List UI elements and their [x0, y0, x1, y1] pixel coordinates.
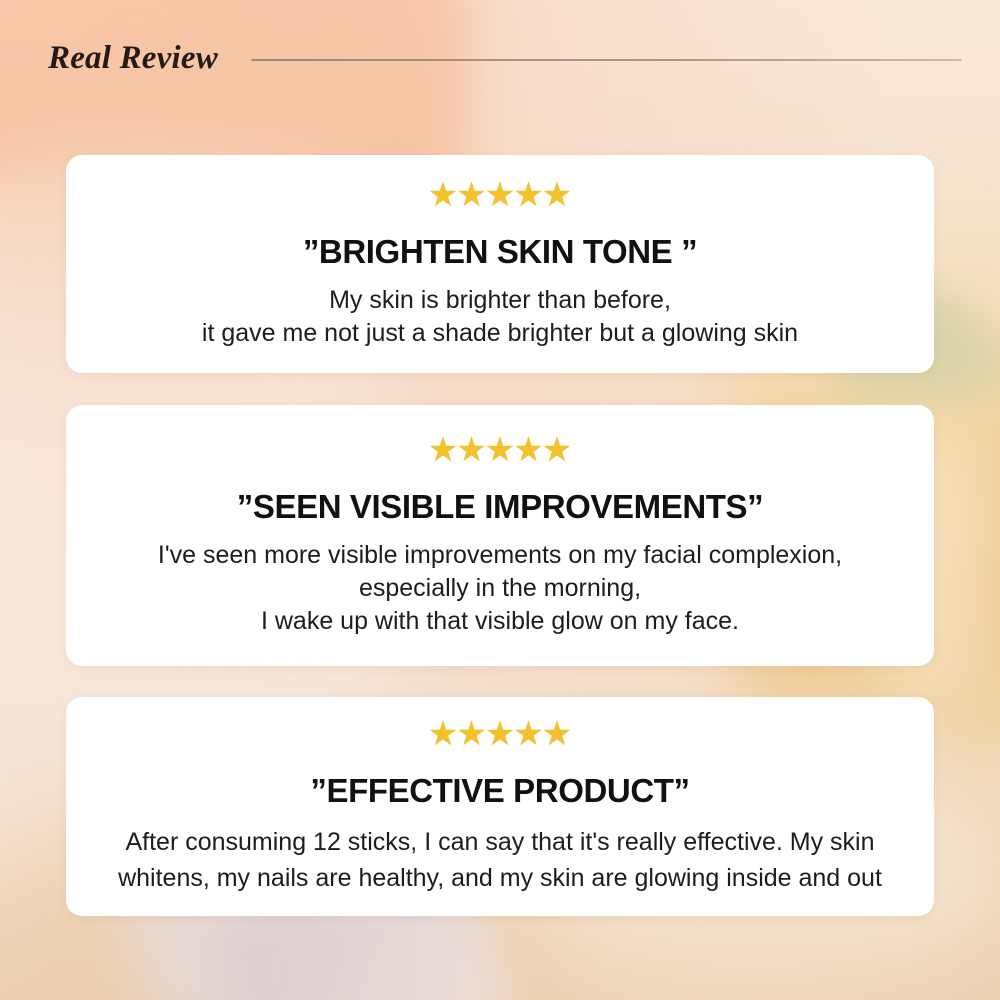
star-icon: ★	[485, 433, 515, 467]
review-body-line: it gave me not just a shade brighter but…	[202, 317, 798, 350]
star-icon: ★	[542, 717, 572, 751]
star-rating: ★ ★ ★ ★ ★	[429, 433, 571, 467]
review-body-line: I've seen more visible improvements on m…	[158, 539, 842, 572]
star-icon: ★	[513, 178, 543, 212]
star-icon: ★	[513, 433, 543, 467]
review-card-effective-product[interactable]: ★ ★ ★ ★ ★ ”EFFECTIVE PRODUCT” After cons…	[66, 697, 934, 916]
header-divider	[251, 59, 962, 61]
review-title: ”EFFECTIVE PRODUCT”	[310, 773, 689, 809]
page-title: Real Review	[48, 42, 218, 75]
review-body: After consuming 12 sticks, I can say tha…	[118, 824, 882, 897]
star-icon: ★	[456, 717, 486, 751]
star-icon: ★	[456, 178, 486, 212]
star-icon: ★	[485, 178, 515, 212]
star-icon: ★	[542, 178, 572, 212]
star-icon: ★	[428, 717, 458, 751]
review-body-line: whitens, my nails are healthy, and my sk…	[118, 860, 882, 896]
review-card-seen-visible-improvements[interactable]: ★ ★ ★ ★ ★ ”SEEN VISIBLE IMPROVEMENTS” I'…	[66, 405, 934, 666]
review-body: I've seen more visible improvements on m…	[158, 539, 842, 638]
star-icon: ★	[456, 433, 486, 467]
star-icon: ★	[428, 178, 458, 212]
star-icon: ★	[542, 433, 572, 467]
page-header: Real Review	[0, 30, 1000, 90]
review-card-brighten-skin-tone[interactable]: ★ ★ ★ ★ ★ ”BRIGHTEN SKIN TONE ” My skin …	[66, 155, 934, 373]
review-body-line: My skin is brighter than before,	[202, 284, 798, 317]
review-body-line: After consuming 12 sticks, I can say tha…	[118, 824, 882, 860]
star-rating: ★ ★ ★ ★ ★	[429, 178, 571, 212]
review-body-line: I wake up with that visible glow on my f…	[158, 605, 842, 638]
review-body: My skin is brighter than before, it gave…	[202, 284, 798, 350]
star-icon: ★	[485, 717, 515, 751]
star-icon: ★	[428, 433, 458, 467]
star-rating: ★ ★ ★ ★ ★	[429, 717, 571, 751]
review-title: ”SEEN VISIBLE IMPROVEMENTS”	[237, 489, 763, 525]
review-body-line: especially in the morning,	[158, 572, 842, 605]
review-page: Real Review ★ ★ ★ ★ ★ ”BRIGHTEN SKIN TON…	[0, 0, 1000, 1000]
review-title: ”BRIGHTEN SKIN TONE ”	[303, 234, 697, 270]
star-icon: ★	[513, 717, 543, 751]
